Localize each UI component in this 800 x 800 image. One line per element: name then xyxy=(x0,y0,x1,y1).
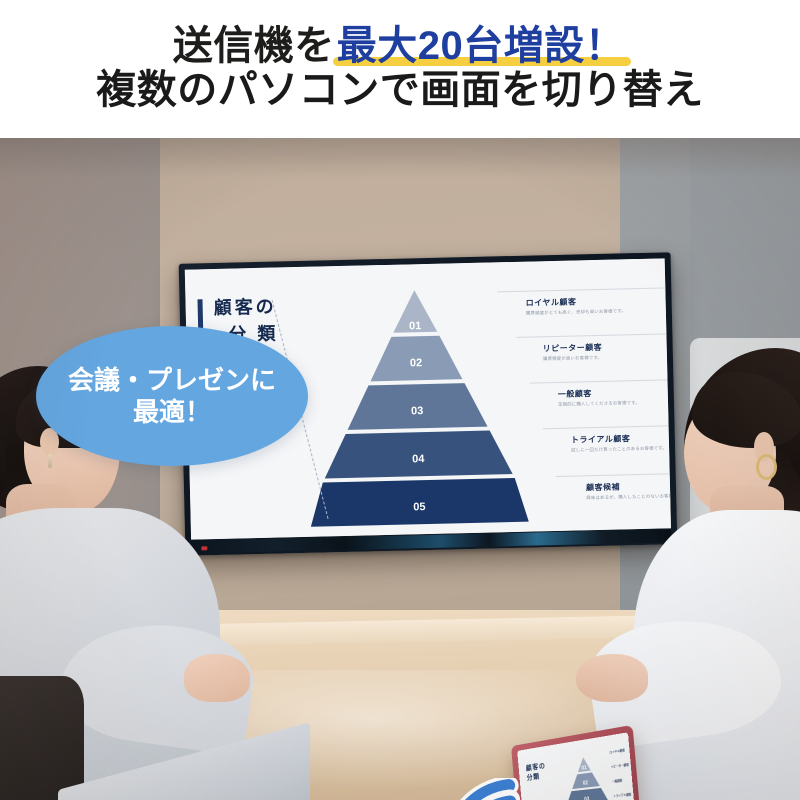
svg-text:01: 01 xyxy=(581,765,587,771)
pyramid-num-3: 03 xyxy=(411,405,424,417)
svg-text:03: 03 xyxy=(584,796,590,800)
speech-bubble: 会議・プレゼンに 最適！ xyxy=(36,326,308,466)
header-banner: 送信機を最大20台増設！ 複数のパソコンで画面を切り替え xyxy=(0,0,800,138)
person-right-earring xyxy=(756,454,777,480)
laptop-device[interactable] xyxy=(10,756,330,800)
pyramid-num-5: 05 xyxy=(413,501,426,513)
headline-line-2: 複数のパソコンで画面を切り替え xyxy=(96,70,704,112)
pyramid-num-4: 04 xyxy=(412,453,425,465)
speech-bubble-line-1: 会議・プレゼンに xyxy=(68,364,276,397)
pyramid-label-1: ロイヤル顧客 購買頻度がとても高く、売却も高いお客様です。 xyxy=(526,294,671,318)
ceiling-shadow xyxy=(0,138,800,178)
pyramid-num-2: 02 xyxy=(410,357,423,369)
headline-plain-text: 送信機を xyxy=(173,24,335,68)
wifi-icon xyxy=(440,778,536,800)
pyramid-label-list: ロイヤル顧客 購買頻度がとても高く、売却も高いお客様です。 リピーター顧客 購買… xyxy=(525,278,671,282)
label-rule xyxy=(516,332,671,337)
slide-title-line-1: 顧客の xyxy=(213,294,278,323)
pyramid-num-1: 01 xyxy=(409,320,422,332)
person-left-earring xyxy=(48,454,52,468)
label-heading: リピーター顧客 xyxy=(543,340,671,355)
tablet-pyramid-svg: 01 02 03 04 05 xyxy=(558,752,617,800)
speech-bubble-line-2: 最適！ xyxy=(133,396,211,429)
pyramid-svg: 01 02 03 04 05 xyxy=(305,284,529,531)
label-rule xyxy=(497,287,671,293)
headline-line-1: 送信機を最大20台増設！ xyxy=(173,26,628,68)
person-left-hand xyxy=(184,654,250,702)
headline-accent-text: 最大20台増設！ xyxy=(335,26,628,68)
person-right-hand xyxy=(576,654,648,702)
promo-banner-page: 送信機を最大20台増設！ 複数のパソコンで画面を切り替え 顧客の 分 類 xyxy=(0,0,800,800)
label-heading: ロイヤル顧客 xyxy=(526,294,671,309)
label-body: 購買頻度がとても高く、売却も高いお客様です。 xyxy=(526,307,671,318)
pyramid-chart: 購入頻度 01 02 03 04 05 xyxy=(305,284,529,531)
headline-accent-label: 最大20台増設！ xyxy=(337,24,626,68)
svg-text:02: 02 xyxy=(583,780,589,786)
scene-photo: 顧客の 分 類 購入頻度 xyxy=(0,138,800,800)
